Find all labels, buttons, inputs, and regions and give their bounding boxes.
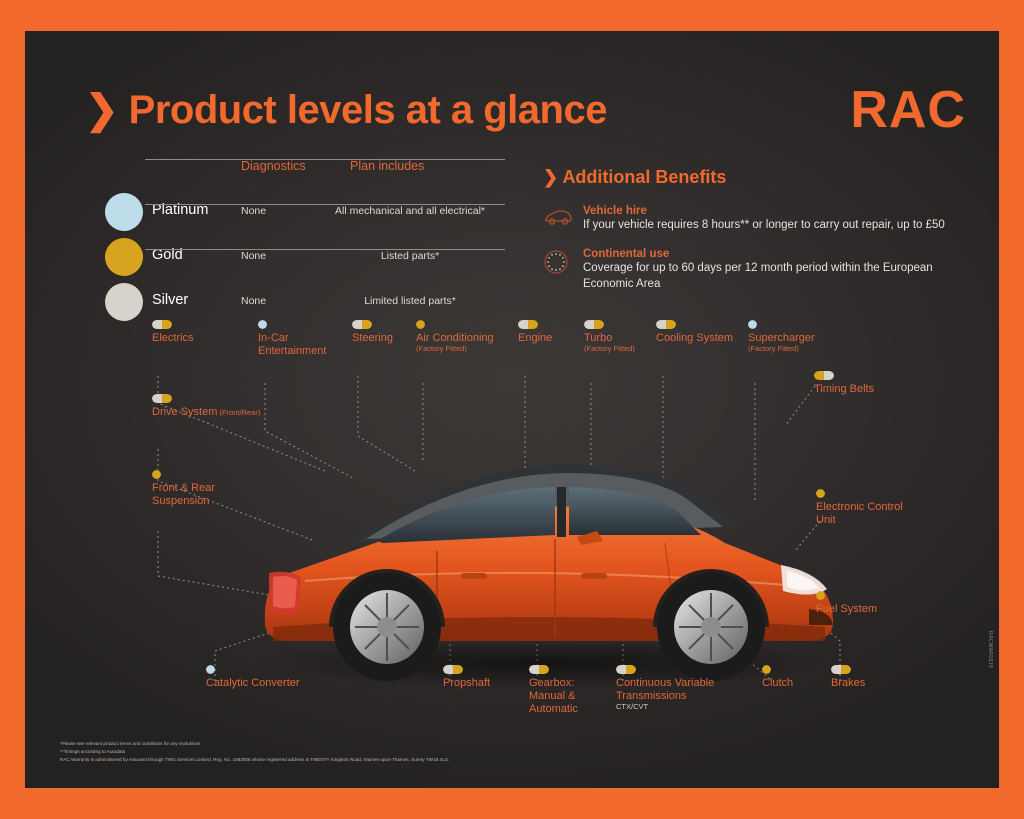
coverage-dot-platinum bbox=[748, 320, 757, 329]
component-callout: Propshaft bbox=[443, 665, 523, 690]
page-title: ❯ Product levels at a glance bbox=[85, 87, 607, 133]
tier-color-dot bbox=[105, 238, 143, 276]
coverage-dot-gold bbox=[528, 320, 538, 329]
component-callout: Electrics bbox=[152, 320, 262, 345]
row-divider bbox=[145, 204, 505, 205]
component-sublabel: (Front/Rear) bbox=[217, 408, 260, 417]
tier-color-dot bbox=[105, 193, 143, 231]
coverage-dot-gold bbox=[453, 665, 463, 674]
benefit-description: Coverage for up to 60 days per 12 month … bbox=[583, 261, 983, 292]
car-icon bbox=[543, 206, 573, 228]
chevron-right-icon: ❯ bbox=[85, 87, 118, 133]
coverage-dot-gold bbox=[152, 470, 161, 479]
coverage-dot-gold bbox=[762, 665, 771, 674]
cell-diagnostics: None bbox=[241, 250, 266, 262]
table-body: PlatinumNoneAll mechanical and all elect… bbox=[105, 187, 505, 322]
coverage-dot-silver bbox=[529, 665, 539, 674]
benefit-title: Vehicle hire bbox=[583, 204, 983, 218]
coverage-dot-gold bbox=[539, 665, 549, 674]
component-label: Catalytic Converter bbox=[206, 677, 336, 690]
coverage-indicator bbox=[584, 320, 604, 329]
cell-plan-includes: Limited listed parts* bbox=[310, 295, 510, 307]
benefits-heading: ❯ Additional Benefits bbox=[543, 167, 983, 188]
cell-diagnostics: None bbox=[241, 205, 266, 217]
benefit-title: Continental use bbox=[583, 247, 983, 261]
cell-diagnostics: None bbox=[241, 295, 266, 307]
benefit-item-continental-use: Continental use Coverage for up to 60 da… bbox=[543, 247, 983, 292]
coverage-dot-silver bbox=[352, 320, 362, 329]
coverage-indicator bbox=[748, 320, 757, 329]
component-callout: Supercharger(Factory Fitted) bbox=[748, 320, 843, 354]
coverage-dot-gold bbox=[362, 320, 372, 329]
component-callout: Fuel System bbox=[816, 591, 916, 616]
component-label: Propshaft bbox=[443, 677, 523, 690]
component-callout: Air Conditioning(Factory Fitted) bbox=[416, 320, 526, 354]
coverage-dot-silver bbox=[152, 320, 162, 329]
component-label: Clutch bbox=[762, 677, 822, 690]
component-sublabel: CTX/CVT bbox=[616, 703, 741, 712]
car-illustration bbox=[225, 431, 865, 701]
coverage-indicator bbox=[258, 320, 267, 329]
benefit-item-vehicle-hire: Vehicle hire If your vehicle requires 8 … bbox=[543, 204, 983, 234]
eu-stars-icon bbox=[543, 249, 573, 271]
component-callout: Continuous Variable TransmissionsCTX/CVT bbox=[616, 665, 741, 712]
coverage-indicator bbox=[762, 665, 771, 674]
component-callout: Cooling System bbox=[656, 320, 756, 345]
additional-benefits-section: ❯ Additional Benefits Vehicle hire If yo… bbox=[543, 167, 983, 305]
component-label: Cooling System bbox=[656, 332, 756, 345]
coverage-dot-silver bbox=[152, 394, 162, 403]
plan-levels-table: Diagnostics Plan includes PlatinumNoneAl… bbox=[105, 159, 505, 322]
coverage-indicator bbox=[152, 470, 161, 479]
content-panel: ❯ Product levels at a glance RAC Diagnos… bbox=[25, 31, 999, 788]
table-header-row: Diagnostics Plan includes bbox=[105, 159, 505, 187]
component-callout: Engine bbox=[518, 320, 588, 345]
footnote-line: RAC Warranty is administered by Assurant… bbox=[60, 756, 449, 764]
component-label: Electronic Control Unit bbox=[816, 501, 936, 527]
coverage-indicator bbox=[206, 665, 215, 674]
coverage-dot-silver bbox=[831, 665, 841, 674]
tier-color-dot bbox=[105, 283, 143, 321]
coverage-dot-silver bbox=[616, 665, 626, 674]
coverage-indicator bbox=[816, 489, 825, 498]
component-label: Front & Rear Suspension bbox=[152, 482, 262, 508]
component-label: Continuous Variable Transmissions bbox=[616, 677, 741, 703]
coverage-dot-gold bbox=[666, 320, 676, 329]
coverage-dot-gold bbox=[841, 665, 851, 674]
coverage-dot-gold bbox=[162, 320, 172, 329]
component-label: Timing Belts bbox=[814, 383, 904, 396]
component-callout: In-Car Entertainment bbox=[258, 320, 358, 358]
coverage-dot-silver bbox=[518, 320, 528, 329]
component-callout: Timing Belts bbox=[814, 371, 904, 396]
rac-logo: RAC bbox=[850, 84, 966, 136]
vertical-code: RACWAR0518 bbox=[987, 631, 993, 668]
footnotes: *Please see relevant product terms and c… bbox=[60, 740, 449, 764]
coverage-dot-silver bbox=[656, 320, 666, 329]
coverage-dot-platinum bbox=[258, 320, 267, 329]
component-label: Gearbox: Manual & Automatic bbox=[529, 677, 609, 716]
table-row: SilverNoneLimited listed parts* bbox=[105, 277, 505, 322]
component-callout: Front & Rear Suspension bbox=[152, 470, 262, 508]
footnote-line: **Timings according to Autodata bbox=[60, 748, 449, 756]
coverage-indicator bbox=[616, 665, 636, 674]
table-row: PlatinumNoneAll mechanical and all elect… bbox=[105, 187, 505, 232]
component-callout: Brakes bbox=[831, 665, 891, 690]
coverage-dot-gold bbox=[816, 591, 825, 600]
column-header-plan-includes: Plan includes bbox=[350, 159, 424, 173]
coverage-indicator bbox=[416, 320, 425, 329]
component-label: Fuel System bbox=[816, 603, 916, 616]
row-divider bbox=[145, 249, 505, 250]
coverage-dot-gold bbox=[162, 394, 172, 403]
component-label: Engine bbox=[518, 332, 588, 345]
coverage-indicator bbox=[443, 665, 463, 674]
infographic-frame: ❯ Product levels at a glance RAC Diagnos… bbox=[0, 0, 1024, 819]
coverage-dot-gold bbox=[816, 489, 825, 498]
row-divider bbox=[145, 159, 505, 160]
coverage-dot-gold bbox=[626, 665, 636, 674]
coverage-dot-gold bbox=[814, 371, 824, 380]
component-label: Drive System (Front/Rear) bbox=[152, 406, 282, 419]
table-row: GoldNoneListed parts* bbox=[105, 232, 505, 277]
benefit-description: If your vehicle requires 8 hours** or lo… bbox=[583, 218, 983, 234]
component-sublabel: (Factory Fitted) bbox=[748, 345, 843, 354]
chevron-right-icon: ❯ bbox=[543, 167, 558, 187]
coverage-indicator bbox=[152, 320, 172, 329]
tier-name: Silver bbox=[152, 292, 188, 308]
coverage-indicator bbox=[816, 591, 825, 600]
coverage-indicator bbox=[152, 394, 172, 403]
component-callout: Drive System (Front/Rear) bbox=[152, 394, 282, 419]
footnote-line: *Please see relevant product terms and c… bbox=[60, 740, 449, 748]
benefits-heading-text: Additional Benefits bbox=[562, 167, 726, 187]
column-header-diagnostics: Diagnostics bbox=[241, 159, 306, 173]
coverage-indicator bbox=[814, 371, 834, 380]
cell-plan-includes: All mechanical and all electrical* bbox=[310, 205, 510, 217]
component-sublabel: (Factory Fitted) bbox=[584, 345, 654, 354]
component-sublabel: (Factory Fitted) bbox=[416, 345, 526, 354]
component-callout: Turbo(Factory Fitted) bbox=[584, 320, 654, 354]
coverage-dot-gold bbox=[594, 320, 604, 329]
coverage-dot-gold bbox=[416, 320, 425, 329]
component-callout: Electronic Control Unit bbox=[816, 489, 936, 527]
coverage-dot-silver bbox=[443, 665, 453, 674]
coverage-indicator bbox=[529, 665, 549, 674]
component-callout: Gearbox: Manual & Automatic bbox=[529, 665, 609, 716]
coverage-indicator bbox=[352, 320, 372, 329]
coverage-indicator bbox=[518, 320, 538, 329]
coverage-dot-silver bbox=[584, 320, 594, 329]
component-label: Electrics bbox=[152, 332, 262, 345]
coverage-dot-silver bbox=[824, 371, 834, 380]
coverage-indicator bbox=[656, 320, 676, 329]
coverage-indicator bbox=[831, 665, 851, 674]
component-label: In-Car Entertainment bbox=[258, 332, 358, 358]
component-label: Brakes bbox=[831, 677, 891, 690]
component-callout: Catalytic Converter bbox=[206, 665, 336, 690]
component-callout: Clutch bbox=[762, 665, 822, 690]
cell-plan-includes: Listed parts* bbox=[310, 250, 510, 262]
page-title-text: Product levels at a glance bbox=[129, 88, 607, 132]
coverage-dot-platinum bbox=[206, 665, 215, 674]
